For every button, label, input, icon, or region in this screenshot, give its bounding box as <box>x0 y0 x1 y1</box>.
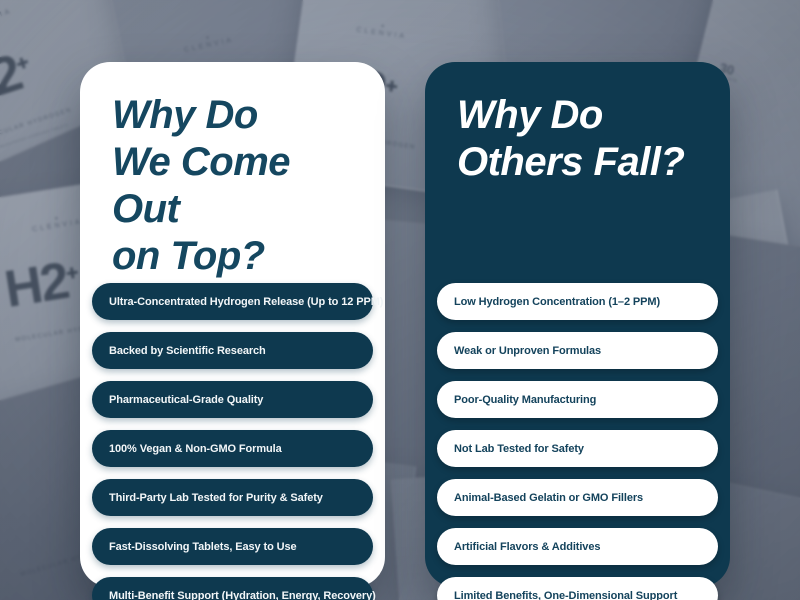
cons-title-line-1: Why Do <box>457 93 603 137</box>
pros-title-line-3: on Top? <box>112 234 265 278</box>
pros-benefit-list: Ultra-Concentrated Hydrogen Release (Up … <box>92 283 373 600</box>
list-item[interactable]: Low Hydrogen Concentration (1–2 PPM) <box>437 283 718 320</box>
list-item[interactable]: Pharmaceutical-Grade Quality <box>92 381 373 418</box>
list-item[interactable]: Ultra-Concentrated Hydrogen Release (Up … <box>92 283 373 320</box>
pros-title-line-1: Why Do <box>112 93 258 137</box>
pros-title-line-2: We Come Out <box>112 140 290 231</box>
cons-card-title: Why Do Others Fall? <box>457 92 710 186</box>
list-item[interactable]: Poor-Quality Manufacturing <box>437 381 718 418</box>
list-item[interactable]: Artificial Flavors & Additives <box>437 528 718 565</box>
list-item[interactable]: Backed by Scientific Research <box>92 332 373 369</box>
list-item[interactable]: Third-Party Lab Tested for Purity & Safe… <box>92 479 373 516</box>
pros-card: Why Do We Come Out on Top? Ultra-Concent… <box>80 62 385 587</box>
cons-title-line-2: Others Fall? <box>457 140 684 184</box>
list-item[interactable]: Animal-Based Gelatin or GMO Fillers <box>437 479 718 516</box>
pros-card-title: Why Do We Come Out on Top? <box>112 92 365 280</box>
list-item[interactable]: 100% Vegan & Non-GMO Formula <box>92 430 373 467</box>
cons-card: Why Do Others Fall? Low Hydrogen Concent… <box>425 62 730 587</box>
list-item[interactable]: Multi-Benefit Support (Hydration, Energy… <box>92 577 373 600</box>
list-item[interactable]: Fast-Dissolving Tablets, Easy to Use <box>92 528 373 565</box>
cons-drawback-list: Low Hydrogen Concentration (1–2 PPM) Wea… <box>437 283 718 600</box>
list-item[interactable]: Weak or Unproven Formulas <box>437 332 718 369</box>
list-item[interactable]: Limited Benefits, One-Dimensional Suppor… <box>437 577 718 600</box>
list-item[interactable]: Not Lab Tested for Safety <box>437 430 718 467</box>
